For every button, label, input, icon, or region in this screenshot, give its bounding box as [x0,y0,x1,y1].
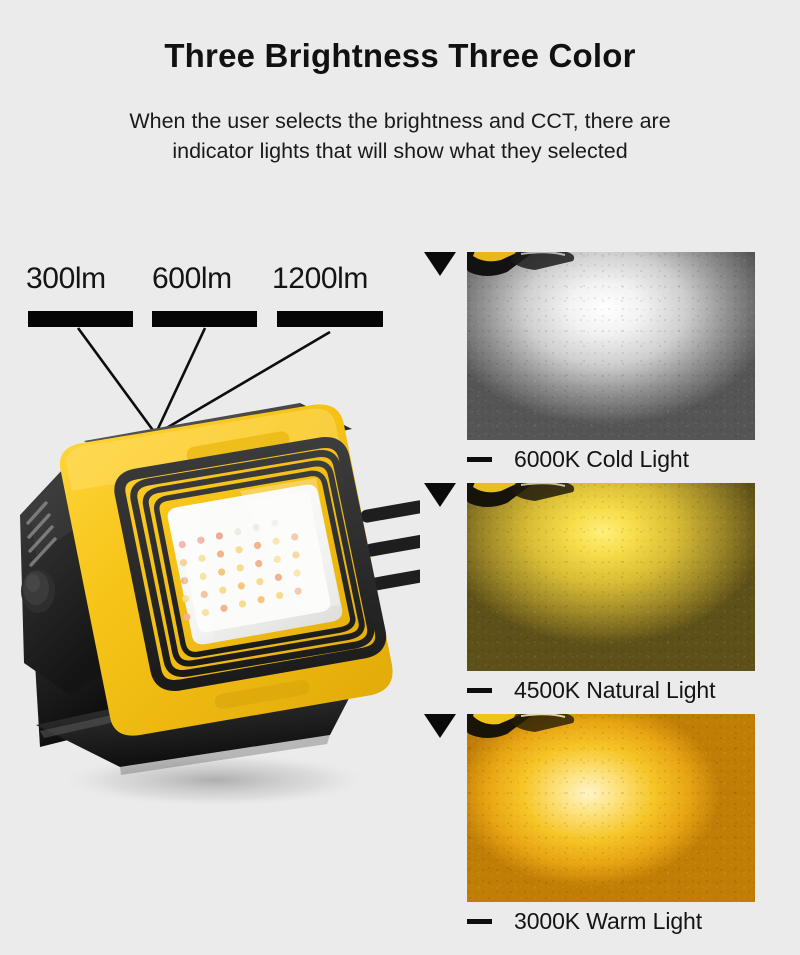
product-image [0,395,420,820]
caption-dash-icon [467,688,492,693]
brightness-bar-1200lm [277,311,383,327]
subtitle-line-2: indicator lights that will show what the… [0,136,800,167]
preview-caption-3000k: 3000K Warm Light [514,908,702,935]
header: Three Brightness Three Color When the us… [0,0,800,167]
triangle-marker-icon [424,483,456,507]
lamp-cameo-icon [467,252,591,298]
brightness-bar-600lm [152,311,257,327]
page-title: Three Brightness Three Color [0,0,800,76]
triangle-marker-icon [424,252,456,276]
preview-caption-row-3000k: 3000K Warm Light [467,904,800,938]
preview-caption-6000k: 6000K Cold Light [514,446,689,473]
preview-card-3000k: 3000K Warm Light [420,708,800,940]
subtitle-line-1: When the user selects the brightness and… [0,106,800,137]
preview-photo-6000k [467,252,755,440]
lamp-cameo-icon [467,714,591,760]
brightness-label-300lm: 300lm [26,262,106,296]
light-preview-list: 6000K Cold Light 4500K Natural Light [420,246,800,946]
preview-caption-row-6000k: 6000K Cold Light [467,442,800,476]
preview-caption-row-4500k: 4500K Natural Light [467,673,800,707]
page-subtitle: When the user selects the brightness and… [0,76,800,167]
brightness-label-1200lm: 1200lm [272,262,368,296]
brightness-bar-300lm [28,311,133,327]
preview-card-4500k: 4500K Natural Light [420,477,800,709]
brightness-callouts: 300lm 600lm 1200lm [0,262,410,342]
brightness-label-row: 300lm 600lm 1200lm [0,262,410,304]
caption-dash-icon [467,919,492,924]
lamp-cameo-icon [467,483,591,529]
brightness-label-600lm: 600lm [152,262,232,296]
preview-card-6000k: 6000K Cold Light [420,246,800,478]
preview-photo-4500k [467,483,755,671]
caption-dash-icon [467,457,492,462]
triangle-marker-icon [424,714,456,738]
preview-caption-4500k: 4500K Natural Light [514,677,715,704]
preview-photo-3000k [467,714,755,902]
